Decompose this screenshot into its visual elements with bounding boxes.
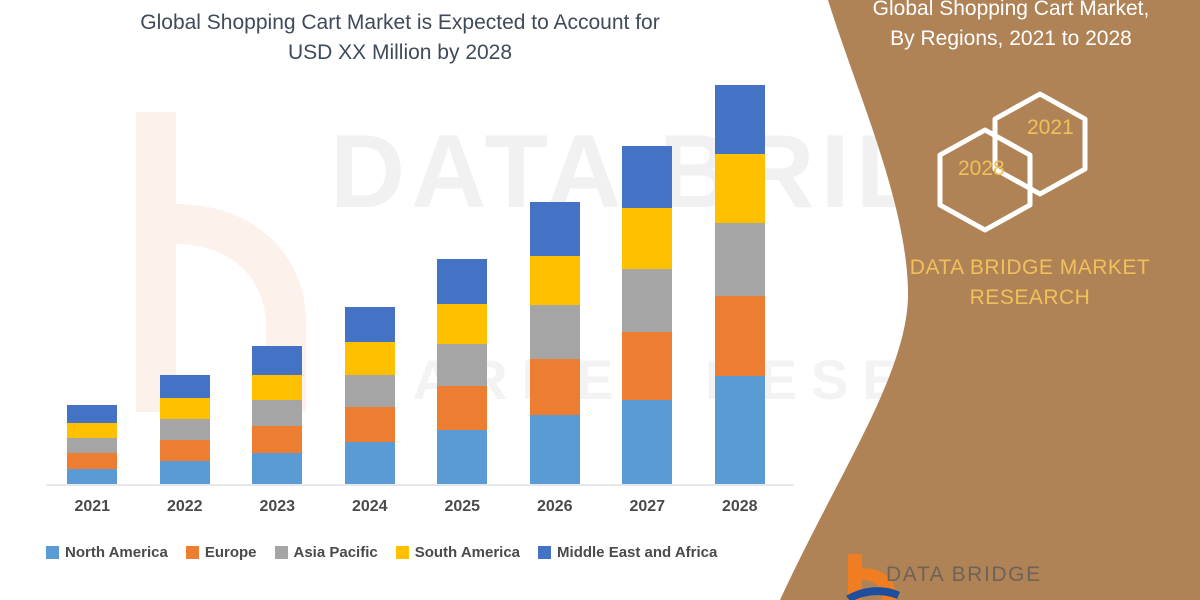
- x-tick-label: 2024: [330, 498, 410, 516]
- bar-segment: [252, 346, 302, 375]
- bar-segment: [622, 400, 672, 484]
- hexagon-label-front: 2028: [958, 157, 1005, 181]
- bar-segment: [252, 426, 302, 453]
- chart-legend: North AmericaEuropeAsia PacificSouth Ame…: [46, 540, 786, 564]
- bar-2023: [252, 346, 302, 484]
- bar-segment: [345, 442, 395, 484]
- bar-segment: [715, 223, 765, 296]
- bar-segment: [437, 344, 487, 386]
- headline-line-2: USD XX Million by 2028: [60, 38, 740, 68]
- x-tick-label: 2021: [52, 498, 132, 516]
- bar-segment: [160, 461, 210, 484]
- legend-item[interactable]: South America: [396, 544, 520, 561]
- bar-2027: [622, 146, 672, 484]
- bar-segment: [530, 202, 580, 256]
- x-tick-label: 2023: [237, 498, 317, 516]
- bar-segment: [437, 304, 487, 344]
- bar-2026: [530, 202, 580, 484]
- x-tick-label: 2028: [700, 498, 780, 516]
- legend-label: Middle East and Africa: [557, 544, 717, 561]
- hexagon-label-back: 2021: [1027, 116, 1074, 140]
- legend-swatch-icon: [46, 546, 59, 559]
- legend-item[interactable]: Asia Pacific: [275, 544, 378, 561]
- hexagon-shapes-icon: [925, 88, 1125, 233]
- chart-headline: Global Shopping Cart Market is Expected …: [60, 8, 740, 68]
- bar-segment: [530, 305, 580, 359]
- legend-swatch-icon: [538, 546, 551, 559]
- bar-segment: [715, 85, 765, 154]
- panel-title-line-1: Global Shopping Cart Market,: [836, 0, 1186, 24]
- bar-2025: [437, 259, 487, 484]
- legend-label: Europe: [205, 544, 257, 561]
- legend-swatch-icon: [275, 546, 288, 559]
- x-tick-label: 2025: [422, 498, 502, 516]
- legend-label: Asia Pacific: [294, 544, 378, 561]
- plot-area: [46, 100, 786, 484]
- footer-logo-text: DATA BRIDGE: [886, 563, 1042, 587]
- x-axis-line: [46, 484, 794, 486]
- headline-line-1: Global Shopping Cart Market is Expected …: [60, 8, 740, 38]
- bar-segment: [160, 398, 210, 419]
- bar-segment: [622, 208, 672, 269]
- bar-segment: [160, 419, 210, 440]
- bar-segment: [252, 453, 302, 484]
- bar-segment: [437, 259, 487, 303]
- bar-segment: [345, 307, 395, 342]
- bar-segment: [530, 359, 580, 415]
- bar-segment: [67, 438, 117, 453]
- bar-segment: [67, 469, 117, 484]
- bar-segment: [715, 154, 765, 223]
- hexagon-logo-group: 2021 2028: [925, 88, 1125, 233]
- brand-name-line-2: RESEARCH: [880, 283, 1180, 313]
- bar-segment: [715, 376, 765, 484]
- brand-name: DATA BRIDGE MARKET RESEARCH: [880, 253, 1180, 313]
- bar-2021: [67, 405, 117, 484]
- panel-title: Global Shopping Cart Market, By Regions,…: [836, 0, 1186, 54]
- bar-segment: [67, 423, 117, 438]
- bar-segment: [160, 375, 210, 398]
- x-tick-label: 2027: [607, 498, 687, 516]
- bar-segment: [437, 386, 487, 430]
- legend-label: South America: [415, 544, 520, 561]
- bar-2022: [160, 375, 210, 484]
- bar-segment: [622, 146, 672, 207]
- bar-2024: [345, 307, 395, 484]
- bar-segment: [437, 430, 487, 484]
- bar-segment: [252, 375, 302, 400]
- bar-segment: [622, 269, 672, 332]
- x-axis-tick-labels: 20212022202320242025202620272028: [46, 492, 786, 522]
- legend-swatch-icon: [186, 546, 199, 559]
- stacked-bar-chart: Global Shopping Cart Market is Expected …: [0, 0, 820, 600]
- bar-segment: [345, 375, 395, 408]
- bar-segment: [715, 296, 765, 377]
- panel-title-line-2: By Regions, 2021 to 2028: [836, 24, 1186, 54]
- bar-2028: [715, 85, 765, 484]
- legend-swatch-icon: [396, 546, 409, 559]
- bar-segment: [530, 256, 580, 306]
- legend-item[interactable]: Middle East and Africa: [538, 544, 717, 561]
- legend-item[interactable]: Europe: [186, 544, 257, 561]
- legend-label: North America: [65, 544, 168, 561]
- bar-segment: [530, 415, 580, 484]
- bar-segment: [345, 407, 395, 442]
- brand-name-line-1: DATA BRIDGE MARKET: [880, 253, 1180, 283]
- bar-segment: [622, 332, 672, 399]
- infographic-canvas: DATA BRIDGE MARKET RESEARCH Global Shopp…: [0, 0, 1200, 600]
- legend-item[interactable]: North America: [46, 544, 168, 561]
- x-tick-label: 2022: [145, 498, 225, 516]
- x-tick-label: 2026: [515, 498, 595, 516]
- bar-segment: [67, 405, 117, 422]
- bar-segment: [160, 440, 210, 461]
- bar-segment: [67, 453, 117, 468]
- bar-segment: [345, 342, 395, 375]
- bar-segment: [252, 400, 302, 427]
